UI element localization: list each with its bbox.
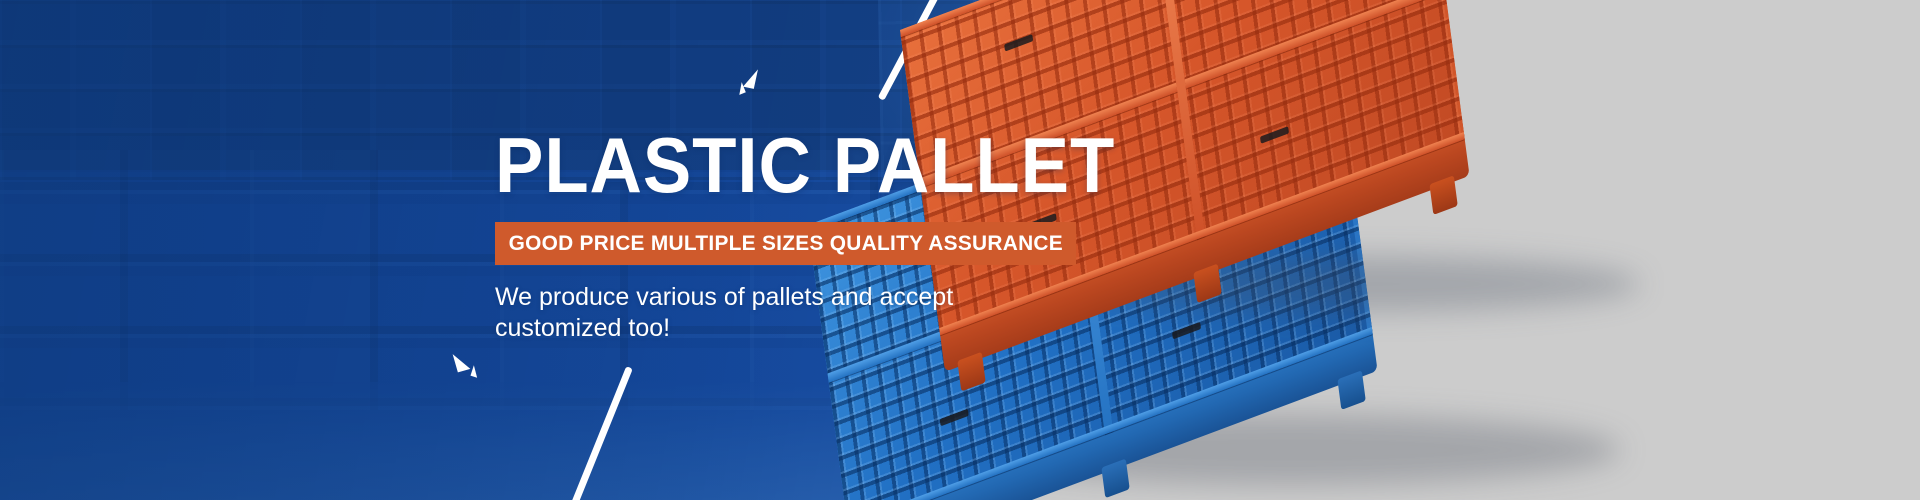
product-images bbox=[1000, 20, 1920, 490]
banner-headline: PLASTIC PALLET bbox=[495, 128, 979, 202]
banner-subtext: We produce various of pallets and accept… bbox=[495, 282, 985, 343]
plastic-pallet-hero-banner: PLASTIC PALLET GOOD PRICE MULTIPLE SIZES… bbox=[0, 0, 1920, 500]
banner-copy-block: PLASTIC PALLET GOOD PRICE MULTIPLE SIZES… bbox=[495, 128, 1015, 343]
banner-tagline-bar: GOOD PRICE MULTIPLE SIZES QUALITY ASSURA… bbox=[495, 222, 1076, 265]
